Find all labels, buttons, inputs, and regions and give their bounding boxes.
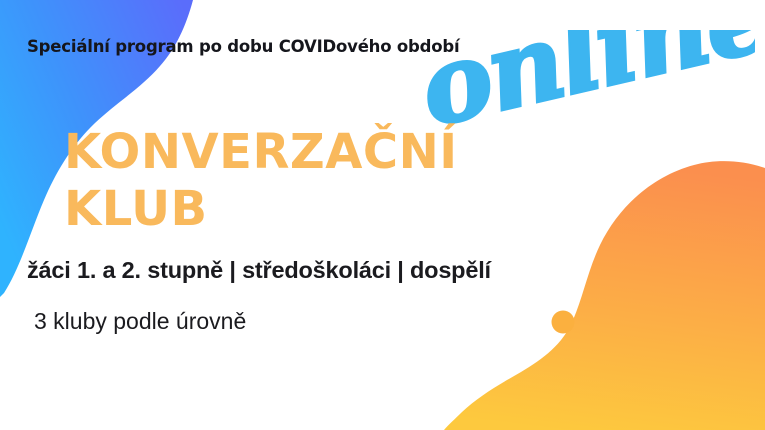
title-line-2: KLUB [64, 181, 534, 238]
levels-subtitle: 3 kluby podle úrovně [34, 308, 246, 335]
title-line-1: KONVERZAČNÍ [64, 124, 534, 181]
poster-content: Speciální program po dobu COVIDového obd… [0, 0, 765, 430]
audience-subtitle: žáci 1. a 2. stupně | středoškoláci | do… [27, 257, 491, 284]
main-title: KONVERZAČNÍ KLUB [64, 124, 534, 238]
kicker-text: Speciální program po dobu COVIDového obd… [27, 37, 459, 56]
promo-poster: Speciální program po dobu COVIDového obd… [0, 0, 765, 430]
